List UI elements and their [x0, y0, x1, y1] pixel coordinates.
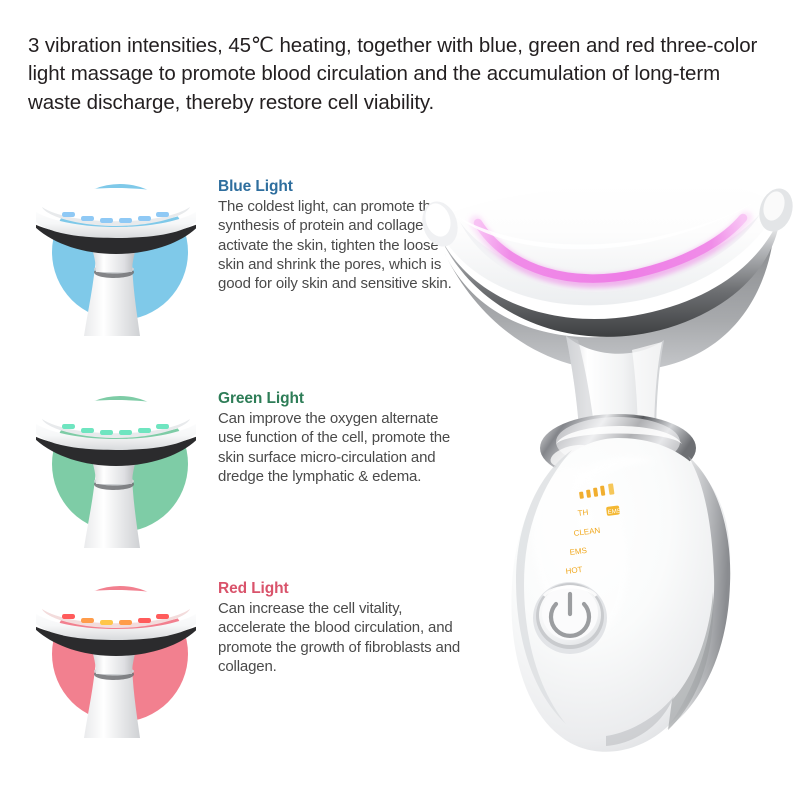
- blue-light-thumbnail: [36, 176, 196, 336]
- power-button[interactable]: [533, 582, 607, 654]
- green-light-thumbnail: [36, 388, 196, 548]
- mini-device-blue: [36, 176, 196, 336]
- product-illustration: TH EMS CLEAN EMS HOT: [420, 180, 800, 760]
- red-light-thumbnail: [36, 578, 196, 738]
- mini-device-red: [36, 578, 196, 738]
- indicator-label-th: TH: [577, 508, 589, 518]
- product-photo: TH EMS CLEAN EMS HOT: [420, 180, 800, 760]
- intro-paragraph: 3 vibration intensities, 45℃ heating, to…: [28, 32, 776, 117]
- mini-device-green: [36, 388, 196, 548]
- device-head: [420, 182, 798, 371]
